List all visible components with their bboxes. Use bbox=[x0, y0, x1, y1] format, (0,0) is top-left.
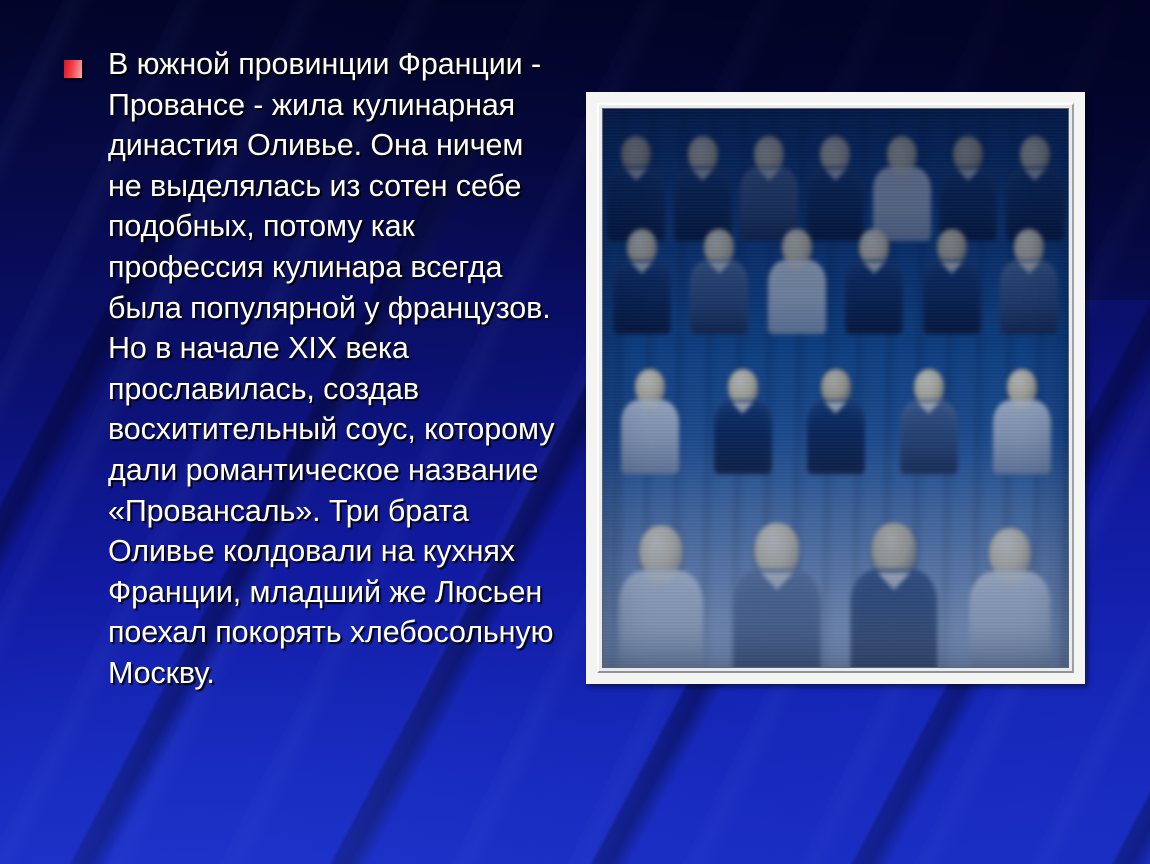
photo-figure bbox=[1000, 229, 1058, 334]
photo-frame-bevel bbox=[597, 103, 1074, 673]
photo-figure-row-third bbox=[603, 324, 1068, 474]
photo-figure bbox=[923, 229, 981, 334]
photo-figure-row-second bbox=[603, 204, 1068, 334]
red-square-bullet-icon bbox=[64, 60, 82, 78]
slide-body: В южной провинции Франции - Провансе - ж… bbox=[64, 44, 564, 694]
photo-figure bbox=[969, 528, 1050, 668]
photo-figure bbox=[850, 523, 937, 668]
photo-figure bbox=[619, 525, 703, 668]
photo-figure bbox=[690, 229, 748, 334]
photo-frame bbox=[586, 92, 1085, 684]
photo-figure bbox=[734, 523, 821, 668]
bullet-item-text: В южной провинции Франции - Провансе - ж… bbox=[108, 44, 564, 694]
bullet-item: В южной провинции Франции - Провансе - ж… bbox=[64, 44, 564, 694]
vintage-group-photograph bbox=[602, 108, 1069, 668]
photo-figure bbox=[768, 229, 826, 334]
photo-figure bbox=[845, 229, 903, 334]
presentation-slide: В южной провинции Франции - Провансе - ж… bbox=[0, 0, 1150, 864]
photo-figure-row-front bbox=[603, 454, 1068, 654]
photo-figure bbox=[613, 229, 671, 334]
